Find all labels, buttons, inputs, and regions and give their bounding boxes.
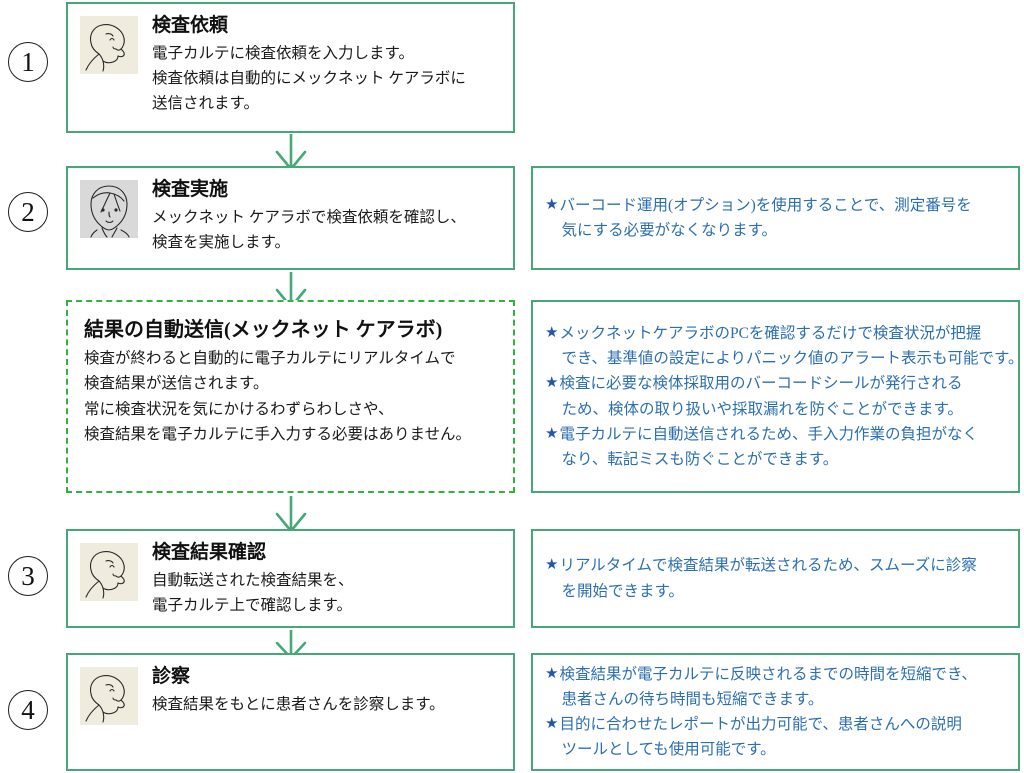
- note-box-step-2: ★ バーコード運用(オプション)を使用することで、測定番号を 気にする必要がなく…: [531, 166, 1020, 270]
- flow-box-step-1-line-2: 検査依頼は自動的にメックネット ケアラボに: [152, 66, 466, 91]
- flow-box-auto-send-line-3: 常に検査状況を気にかけるわずらわしさや、: [84, 397, 471, 422]
- star-icon: ★: [545, 712, 558, 736]
- note-box-step-4: ★ 検査結果が電子カルテに反映されるまでの時間を短縮でき、 患者さんの待ち時間も…: [531, 653, 1020, 771]
- note-line: メックネットケアラボのPCを確認するだけで検査状況が把握: [559, 325, 981, 342]
- note-box-auto-send: ★ メックネットケアラボのPCを確認するだけで検査状況が把握 でき、基準値の設定…: [531, 300, 1020, 493]
- flow-box-auto-send-line-2: 検査結果が送信されます。: [84, 371, 471, 396]
- flow-box-step-2-title: 検査実施: [152, 178, 466, 202]
- flow-box-step-3[interactable]: 検査結果確認 自動転送された検査結果を、 電子カルテ上で確認します。: [66, 529, 515, 628]
- note-item: ★ 検査結果が電子カルテに反映されるまでの時間を短縮でき、 患者さんの待ち時間も…: [545, 662, 1008, 712]
- flow-box-step-4-text: 診察 検査結果をもとに患者さんを診察します。: [152, 665, 445, 717]
- note-line: 検査に必要な検体採取用のバーコードシールが発行される: [559, 375, 962, 392]
- note-line: 電子カルテに自動送信されるため、手入力作業の負担がなく: [559, 426, 978, 443]
- patient-profile-icon: [80, 667, 138, 725]
- flow-box-step-3-text: 検査結果確認 自動転送された検査結果を、 電子カルテ上で確認します。: [152, 541, 354, 618]
- flow-box-step-1-line-1: 電子カルテに検査依頼を入力します。: [152, 41, 466, 66]
- note-text: リアルタイムで検査結果が転送されるため、スムーズに診察 を開始できます。: [559, 553, 976, 603]
- flow-box-auto-send-line-4: 検査結果を電子カルテに手入力する必要はありません。: [84, 422, 471, 447]
- note-text: バーコード運用(オプション)を使用することで、測定番号を 気にする必要がなくなり…: [559, 193, 971, 243]
- step-number-3: 3: [8, 556, 48, 596]
- flow-box-step-2-line-1: メックネット ケアラボで検査依頼を確認し、: [152, 205, 466, 230]
- flow-box-step-2-text: 検査実施 メックネット ケアラボで検査依頼を確認し、 検査を実施します。: [152, 178, 466, 255]
- note-item: ★ バーコード運用(オプション)を使用することで、測定番号を 気にする必要がなく…: [545, 193, 1008, 243]
- flow-box-step-4[interactable]: 診察 検査結果をもとに患者さんを診察します。: [66, 653, 515, 771]
- flow-box-step-2-line-2: 検査を実施します。: [152, 230, 466, 255]
- star-icon: ★: [545, 193, 558, 217]
- note-line: を開始できます。: [559, 583, 683, 600]
- lab-technician-icon: [80, 180, 138, 238]
- note-line: リアルタイムで検査結果が転送されるため、スムーズに診察: [559, 557, 976, 574]
- note-box-step-3: ★ リアルタイムで検査結果が転送されるため、スムーズに診察 を開始できます。: [531, 529, 1020, 628]
- flow-box-step-1-text: 検査依頼 電子カルテに検査依頼を入力します。 検査依頼は自動的にメックネット ケ…: [152, 14, 466, 117]
- step-number-4-label: 4: [21, 697, 35, 724]
- flow-box-step-1-content: 検査依頼 電子カルテに検査依頼を入力します。 検査依頼は自動的にメックネット ケ…: [68, 4, 513, 117]
- flow-box-step-4-line-1: 検査結果をもとに患者さんを診察します。: [152, 692, 445, 717]
- star-icon: ★: [545, 553, 558, 577]
- note-line: バーコード運用(オプション)を使用することで、測定番号を: [559, 197, 971, 214]
- flow-box-step-1-title: 検査依頼: [152, 14, 466, 38]
- note-item: ★ リアルタイムで検査結果が転送されるため、スムーズに診察 を開始できます。: [545, 553, 1008, 603]
- note-line: 気にする必要がなくなります。: [559, 222, 777, 239]
- note-text: 検査に必要な検体採取用のバーコードシールが発行される ため、検体の取り扱いや採取…: [559, 371, 962, 421]
- flow-box-auto-send-content: 結果の自動送信(メックネット ケアラボ) 検査が終わると自動的に電子カルテにリア…: [68, 302, 513, 447]
- flow-box-step-2-content: 検査実施 メックネット ケアラボで検査依頼を確認し、 検査を実施します。: [68, 168, 513, 255]
- note-line: 患者さんの待ち時間も短縮できます。: [559, 691, 823, 708]
- step-number-1: 1: [8, 42, 48, 82]
- note-text: 目的に合わせたレポートが出力可能で、患者さんへの説明 ツールとしても使用可能です…: [559, 712, 961, 762]
- note-item: ★ 検査に必要な検体採取用のバーコードシールが発行される ため、検体の取り扱いや…: [545, 371, 1008, 421]
- star-icon: ★: [545, 422, 558, 446]
- flow-box-step-1-line-3: 送信されます。: [152, 91, 466, 116]
- star-icon: ★: [545, 321, 558, 345]
- connector-arrow-autosend-step3: [268, 496, 314, 533]
- step-number-3-label: 3: [21, 563, 35, 590]
- step-number-2-label: 2: [21, 199, 35, 226]
- note-item: ★ 目的に合わせたレポートが出力可能で、患者さんへの説明 ツールとしても使用可能…: [545, 712, 1008, 762]
- flow-box-step-3-line-1: 自動転送された検査結果を、: [152, 568, 354, 593]
- step-number-1-label: 1: [21, 49, 35, 76]
- flow-box-step-2[interactable]: 検査実施 メックネット ケアラボで検査依頼を確認し、 検査を実施します。: [66, 166, 515, 270]
- note-line: 目的に合わせたレポートが出力可能で、患者さんへの説明: [559, 716, 961, 733]
- flow-box-auto-send-line-1: 検査が終わると自動的に電子カルテにリアルタイムで: [84, 346, 471, 371]
- workflow-diagram: 1: [0, 0, 1024, 773]
- note-line: でき、基準値の設定によりパニック値のアラート表示も可能です。: [559, 350, 1023, 367]
- flow-box-step-3-content: 検査結果確認 自動転送された検査結果を、 電子カルテ上で確認します。: [68, 531, 513, 618]
- note-item: ★ 電子カルテに自動送信されるため、手入力作業の負担がなく なり、転記ミスも防ぐ…: [545, 422, 1008, 472]
- star-icon: ★: [545, 371, 558, 395]
- step-number-4: 4: [8, 690, 48, 730]
- star-icon: ★: [545, 662, 558, 686]
- flow-box-step-3-line-2: 電子カルテ上で確認します。: [152, 593, 354, 618]
- flow-box-step-4-content: 診察 検査結果をもとに患者さんを診察します。: [68, 655, 513, 725]
- note-line: 検査結果が電子カルテに反映されるまでの時間を短縮でき、: [559, 666, 976, 683]
- note-line: なり、転記ミスも防ぐことができます。: [559, 451, 838, 468]
- note-text: 検査結果が電子カルテに反映されるまでの時間を短縮でき、 患者さんの待ち時間も短縮…: [559, 662, 976, 712]
- note-line: ため、検体の取り扱いや採取漏れを防ぐことができます。: [559, 401, 962, 418]
- flow-box-auto-send-text: 結果の自動送信(メックネット ケアラボ) 検査が終わると自動的に電子カルテにリア…: [84, 318, 471, 447]
- flow-box-step-4-title: 診察: [152, 665, 445, 689]
- note-line: ツールとしても使用可能です。: [559, 741, 775, 758]
- note-text: メックネットケアラボのPCを確認するだけで検査状況が把握 でき、基準値の設定によ…: [559, 321, 1023, 371]
- flow-box-step-3-title: 検査結果確認: [152, 541, 354, 565]
- patient-profile-icon: [80, 16, 138, 74]
- flow-box-auto-send[interactable]: 結果の自動送信(メックネット ケアラボ) 検査が終わると自動的に電子カルテにリア…: [66, 300, 515, 493]
- patient-profile-icon: [80, 543, 138, 601]
- step-number-2: 2: [8, 192, 48, 232]
- note-text: 電子カルテに自動送信されるため、手入力作業の負担がなく なり、転記ミスも防ぐこと…: [559, 422, 978, 472]
- note-item: ★ メックネットケアラボのPCを確認するだけで検査状況が把握 でき、基準値の設定…: [545, 321, 1008, 371]
- flow-box-auto-send-title: 結果の自動送信(メックネット ケアラボ): [84, 318, 471, 343]
- flow-box-step-1[interactable]: 検査依頼 電子カルテに検査依頼を入力します。 検査依頼は自動的にメックネット ケ…: [66, 2, 515, 133]
